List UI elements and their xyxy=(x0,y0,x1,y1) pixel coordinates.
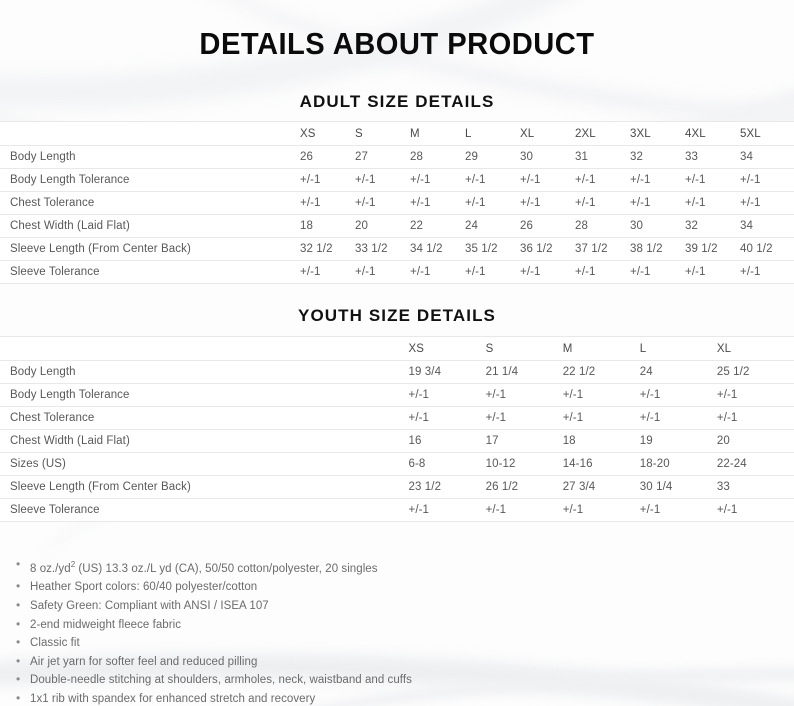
adult-measurement-cell: +/-1 xyxy=(520,261,575,284)
adult-measurement-cell: +/-1 xyxy=(630,192,685,215)
adult-measurement-cell: 26 xyxy=(520,215,575,238)
adult-measurement-cell: +/-1 xyxy=(465,169,520,192)
adult-header-row: XSSMLXL2XL3XL4XL5XL xyxy=(0,122,794,146)
feature-item: 2-end midweight fleece fabric xyxy=(16,616,794,635)
youth-table-row: Sleeve Length (From Center Back)23 1/226… xyxy=(0,476,794,499)
youth-measurement-cell: 19 xyxy=(640,430,717,453)
adult-measurement-cell: +/-1 xyxy=(465,261,520,284)
youth-corner-header xyxy=(0,337,409,361)
youth-table-row: Sleeve Tolerance+/-1+/-1+/-1+/-1+/-1 xyxy=(0,499,794,522)
adult-measurement-cell: +/-1 xyxy=(685,169,740,192)
youth-measurement-cell: +/-1 xyxy=(409,384,486,407)
youth-measurement-cell: 21 1/4 xyxy=(486,361,563,384)
adult-column-header: 4XL xyxy=(685,122,740,146)
adult-table-row: Chest Width (Laid Flat)18202224262830323… xyxy=(0,215,794,238)
youth-measurement-cell: 25 1/2 xyxy=(717,361,794,384)
adult-table-row: Chest Tolerance+/-1+/-1+/-1+/-1+/-1+/-1+… xyxy=(0,192,794,215)
youth-column-header: L xyxy=(640,337,717,361)
adult-measurement-cell: +/-1 xyxy=(575,169,630,192)
youth-measurement-cell: 20 xyxy=(717,430,794,453)
adult-row-label: Chest Width (Laid Flat) xyxy=(0,215,300,238)
youth-measurement-cell: +/-1 xyxy=(486,499,563,522)
adult-measurement-cell: 38 1/2 xyxy=(630,238,685,261)
youth-measurement-cell: 10-12 xyxy=(486,453,563,476)
adult-size-section-title: ADULT SIZE DETAILS xyxy=(0,92,794,112)
adult-column-header: XL xyxy=(520,122,575,146)
adult-table-row: Sleeve Tolerance+/-1+/-1+/-1+/-1+/-1+/-1… xyxy=(0,261,794,284)
youth-table-row: Chest Width (Laid Flat)1617181920 xyxy=(0,430,794,453)
adult-table-row: Body Length Tolerance+/-1+/-1+/-1+/-1+/-… xyxy=(0,169,794,192)
youth-measurement-cell: 6-8 xyxy=(409,453,486,476)
adult-measurement-cell: +/-1 xyxy=(410,192,465,215)
youth-size-section-title: YOUTH SIZE DETAILS xyxy=(0,306,794,326)
adult-measurement-cell: +/-1 xyxy=(355,169,410,192)
adult-table-row: Body Length262728293031323334 xyxy=(0,146,794,169)
feature-item: Classic fit xyxy=(16,634,794,653)
adult-measurement-cell: +/-1 xyxy=(520,192,575,215)
youth-row-label: Body Length Tolerance xyxy=(0,384,409,407)
adult-measurement-cell: 27 xyxy=(355,146,410,169)
feature-item: Heather Sport colors: 60/40 polyester/co… xyxy=(16,578,794,597)
adult-measurement-cell: 32 xyxy=(630,146,685,169)
adult-measurement-cell: 32 xyxy=(685,215,740,238)
adult-measurement-cell: 22 xyxy=(410,215,465,238)
adult-measurement-cell: +/-1 xyxy=(740,169,794,192)
adult-measurement-cell: 28 xyxy=(410,146,465,169)
adult-measurement-cell: 34 xyxy=(740,146,794,169)
feature-item: 8 oz./yd2 (US) 13.3 oz./L yd (CA), 50/50… xyxy=(16,556,794,578)
youth-measurement-cell: 19 3/4 xyxy=(409,361,486,384)
adult-column-header: 5XL xyxy=(740,122,794,146)
adult-measurement-cell: 29 xyxy=(465,146,520,169)
adult-measurement-cell: 33 1/2 xyxy=(355,238,410,261)
adult-row-label: Body Length Tolerance xyxy=(0,169,300,192)
adult-measurement-cell: +/-1 xyxy=(465,192,520,215)
youth-row-label: Sleeve Length (From Center Back) xyxy=(0,476,409,499)
adult-column-header: 3XL xyxy=(630,122,685,146)
youth-column-header: XS xyxy=(409,337,486,361)
adult-corner-header xyxy=(0,122,300,146)
adult-measurement-cell: +/-1 xyxy=(630,169,685,192)
youth-table-row: Chest Tolerance+/-1+/-1+/-1+/-1+/-1 xyxy=(0,407,794,430)
adult-measurement-cell: 39 1/2 xyxy=(685,238,740,261)
youth-header-row: XSSMLXL xyxy=(0,337,794,361)
adult-measurement-cell: 34 xyxy=(740,215,794,238)
adult-column-header: XS xyxy=(300,122,355,146)
youth-measurement-cell: 16 xyxy=(409,430,486,453)
adult-measurement-cell: +/-1 xyxy=(410,169,465,192)
youth-measurement-cell: +/-1 xyxy=(409,499,486,522)
adult-table-head: XSSMLXL2XL3XL4XL5XL xyxy=(0,122,794,146)
youth-row-label: Chest Tolerance xyxy=(0,407,409,430)
youth-row-label: Body Length xyxy=(0,361,409,384)
youth-row-label: Sleeve Tolerance xyxy=(0,499,409,522)
adult-measurement-cell: +/-1 xyxy=(740,192,794,215)
adult-measurement-cell: 31 xyxy=(575,146,630,169)
product-details-page: DETAILS ABOUT PRODUCT ADULT SIZE DETAILS… xyxy=(0,0,794,706)
adult-column-header: S xyxy=(355,122,410,146)
youth-row-label: Chest Width (Laid Flat) xyxy=(0,430,409,453)
adult-measurement-cell: +/-1 xyxy=(300,169,355,192)
youth-measurement-cell: 22 1/2 xyxy=(563,361,640,384)
adult-measurement-cell: 28 xyxy=(575,215,630,238)
adult-measurement-cell: +/-1 xyxy=(740,261,794,284)
adult-measurement-cell: +/-1 xyxy=(685,192,740,215)
youth-measurement-cell: 24 xyxy=(640,361,717,384)
youth-measurement-cell: 30 1/4 xyxy=(640,476,717,499)
youth-measurement-cell: +/-1 xyxy=(563,407,640,430)
youth-table-head: XSSMLXL xyxy=(0,337,794,361)
youth-measurement-cell: +/-1 xyxy=(640,499,717,522)
adult-column-header: M xyxy=(410,122,465,146)
youth-measurement-cell: +/-1 xyxy=(409,407,486,430)
adult-measurement-cell: 20 xyxy=(355,215,410,238)
adult-measurement-cell: +/-1 xyxy=(575,261,630,284)
adult-measurement-cell: 33 xyxy=(685,146,740,169)
adult-measurement-cell: 32 1/2 xyxy=(300,238,355,261)
adult-measurement-cell: 30 xyxy=(520,146,575,169)
adult-measurement-cell: +/-1 xyxy=(685,261,740,284)
page-title: DETAILS ABOUT PRODUCT xyxy=(24,0,770,62)
adult-measurement-cell: 30 xyxy=(630,215,685,238)
product-features-list: 8 oz./yd2 (US) 13.3 oz./L yd (CA), 50/50… xyxy=(0,556,794,706)
youth-row-label: Sizes (US) xyxy=(0,453,409,476)
adult-measurement-cell: +/-1 xyxy=(355,261,410,284)
feature-item: Air jet yarn for softer feel and reduced… xyxy=(16,653,794,672)
youth-measurement-cell: 27 3/4 xyxy=(563,476,640,499)
adult-measurement-cell: 40 1/2 xyxy=(740,238,794,261)
adult-measurement-cell: 35 1/2 xyxy=(465,238,520,261)
youth-measurement-cell: +/-1 xyxy=(486,384,563,407)
youth-measurement-cell: 23 1/2 xyxy=(409,476,486,499)
adult-row-label: Sleeve Length (From Center Back) xyxy=(0,238,300,261)
adult-row-label: Chest Tolerance xyxy=(0,192,300,215)
adult-measurement-cell: +/-1 xyxy=(355,192,410,215)
youth-measurement-cell: 22-24 xyxy=(717,453,794,476)
youth-measurement-cell: 33 xyxy=(717,476,794,499)
youth-table-body: Body Length19 3/421 1/422 1/22425 1/2Bod… xyxy=(0,361,794,522)
youth-measurement-cell: +/-1 xyxy=(717,499,794,522)
youth-column-header: S xyxy=(486,337,563,361)
adult-measurement-cell: +/-1 xyxy=(410,261,465,284)
youth-size-table: XSSMLXL Body Length19 3/421 1/422 1/2242… xyxy=(0,336,794,522)
youth-measurement-cell: +/-1 xyxy=(717,407,794,430)
adult-row-label: Sleeve Tolerance xyxy=(0,261,300,284)
adult-measurement-cell: +/-1 xyxy=(630,261,685,284)
adult-row-label: Body Length xyxy=(0,146,300,169)
adult-size-table: XSSMLXL2XL3XL4XL5XL Body Length262728293… xyxy=(0,121,794,284)
adult-measurement-cell: +/-1 xyxy=(300,192,355,215)
adult-table-body: Body Length262728293031323334Body Length… xyxy=(0,146,794,284)
adult-measurement-cell: 24 xyxy=(465,215,520,238)
youth-measurement-cell: +/-1 xyxy=(486,407,563,430)
feature-item: Safety Green: Compliant with ANSI / ISEA… xyxy=(16,597,794,616)
youth-measurement-cell: 26 1/2 xyxy=(486,476,563,499)
youth-table-row: Body Length19 3/421 1/422 1/22425 1/2 xyxy=(0,361,794,384)
adult-measurement-cell: 34 1/2 xyxy=(410,238,465,261)
adult-column-header: 2XL xyxy=(575,122,630,146)
youth-column-header: XL xyxy=(717,337,794,361)
adult-measurement-cell: 26 xyxy=(300,146,355,169)
youth-measurement-cell: 14-16 xyxy=(563,453,640,476)
youth-measurement-cell: 18-20 xyxy=(640,453,717,476)
youth-column-header: M xyxy=(563,337,640,361)
youth-measurement-cell: +/-1 xyxy=(563,499,640,522)
feature-item: Double-needle stitching at shoulders, ar… xyxy=(16,671,794,690)
adult-measurement-cell: +/-1 xyxy=(575,192,630,215)
feature-item: 1x1 rib with spandex for enhanced stretc… xyxy=(16,690,794,706)
youth-table-row: Sizes (US)6-810-1214-1618-2022-24 xyxy=(0,453,794,476)
adult-measurement-cell: 18 xyxy=(300,215,355,238)
adult-measurement-cell: 37 1/2 xyxy=(575,238,630,261)
adult-measurement-cell: +/-1 xyxy=(300,261,355,284)
youth-measurement-cell: 18 xyxy=(563,430,640,453)
youth-measurement-cell: 17 xyxy=(486,430,563,453)
adult-column-header: L xyxy=(465,122,520,146)
youth-measurement-cell: +/-1 xyxy=(640,407,717,430)
adult-measurement-cell: 36 1/2 xyxy=(520,238,575,261)
youth-measurement-cell: +/-1 xyxy=(640,384,717,407)
adult-measurement-cell: +/-1 xyxy=(520,169,575,192)
youth-measurement-cell: +/-1 xyxy=(563,384,640,407)
youth-measurement-cell: +/-1 xyxy=(717,384,794,407)
youth-table-row: Body Length Tolerance+/-1+/-1+/-1+/-1+/-… xyxy=(0,384,794,407)
adult-table-row: Sleeve Length (From Center Back)32 1/233… xyxy=(0,238,794,261)
